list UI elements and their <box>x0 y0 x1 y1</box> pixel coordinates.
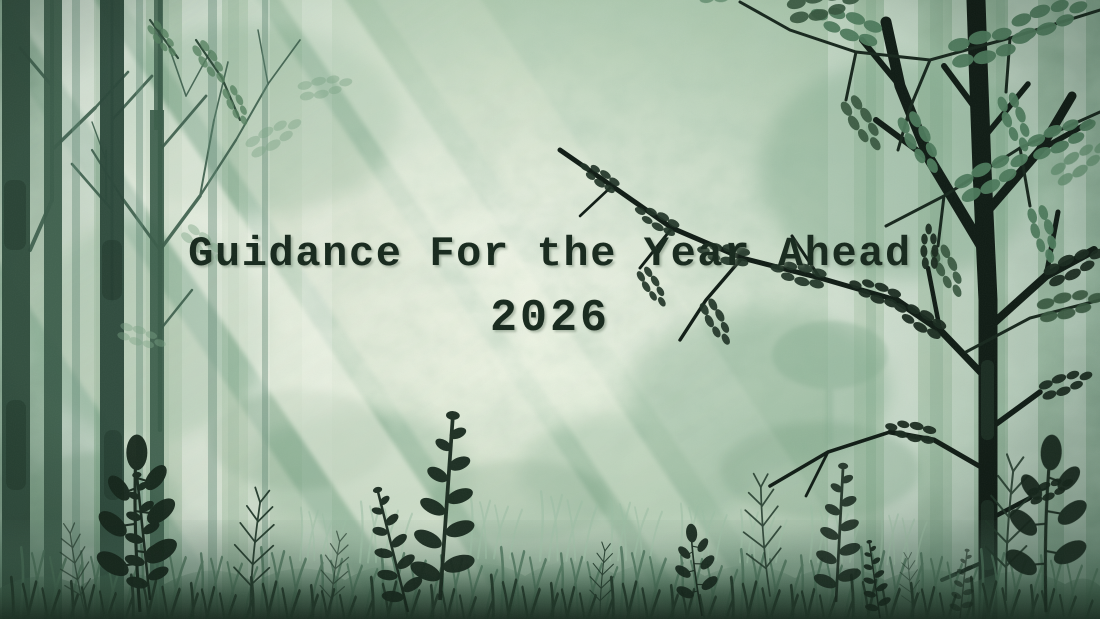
slide-canvas: Guidance For the Year Ahead 2026 <box>0 0 1100 619</box>
grain-vignette-layer <box>0 0 1100 619</box>
